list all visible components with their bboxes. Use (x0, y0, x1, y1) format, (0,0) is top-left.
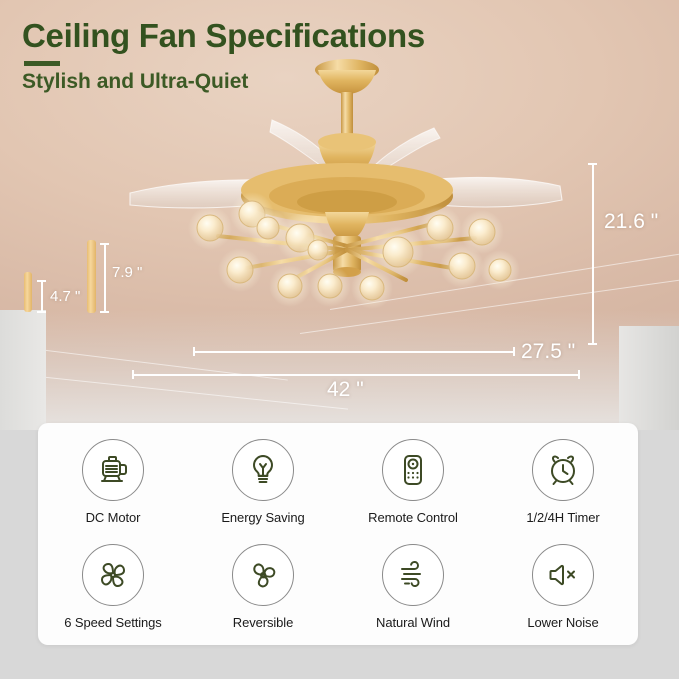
page-title: Ceiling Fan Specifications (22, 18, 425, 54)
feature-natural-wind[interactable]: Natural Wind (338, 544, 488, 630)
dimension-line-span-retracted (193, 351, 515, 353)
dimension-label-downrod-short: 4.7 " (50, 288, 80, 305)
light-bulb-icon (232, 439, 294, 501)
dimension-line-downrod-long (104, 243, 106, 313)
feature-label: Energy Saving (221, 510, 304, 525)
dimension-cap (513, 347, 515, 356)
dimension-line-height (592, 163, 594, 345)
feature-label: 6 Speed Settings (64, 615, 161, 630)
dc-motor-icon (82, 439, 144, 501)
mute-speaker-icon (532, 544, 594, 606)
feature-label: 1/2/4H Timer (526, 510, 599, 525)
feature-row: DC Motor Energy Saving (38, 429, 638, 534)
feature-label: DC Motor (86, 510, 141, 525)
dimension-cap (100, 243, 109, 245)
product-photo: 21.6 " 27.5 " 42 " 4.7 " 7.9 " Ceiling F… (0, 0, 679, 430)
header-block: Ceiling Fan Specifications Stylish and U… (22, 18, 425, 94)
feature-label: Lower Noise (527, 615, 598, 630)
dimension-cap (588, 343, 597, 345)
wind-icon (382, 544, 444, 606)
feature-lower-noise[interactable]: Lower Noise (488, 544, 638, 630)
feature-reversible[interactable]: Reversible (188, 544, 338, 630)
dimension-label-span-retracted: 27.5 " (521, 340, 575, 364)
dimension-line-span-extended (132, 374, 580, 376)
title-divider (24, 61, 60, 66)
dimension-cap (37, 280, 46, 282)
alarm-clock-icon (532, 439, 594, 501)
feature-energy-saving[interactable]: Energy Saving (188, 439, 338, 525)
feature-label: Remote Control (368, 510, 458, 525)
page-subtitle: Stylish and Ultra-Quiet (22, 70, 425, 94)
downrod-short-graphic (24, 272, 32, 312)
feature-panel: DC Motor Energy Saving (38, 423, 638, 645)
feature-dc-motor[interactable]: DC Motor (38, 439, 188, 525)
dimension-cap (578, 370, 580, 379)
dimension-label-downrod-long: 7.9 " (112, 264, 142, 281)
feature-label: Reversible (233, 615, 293, 630)
dimension-cap (588, 163, 597, 165)
dimension-cap (132, 370, 134, 379)
dimension-line-downrod-short (41, 280, 43, 313)
dimension-cap (193, 347, 195, 356)
dimension-label-span-extended: 42 " (327, 378, 364, 402)
dimension-cap (37, 311, 46, 313)
feature-timer[interactable]: 1/2/4H Timer (488, 439, 638, 525)
feature-label: Natural Wind (376, 615, 450, 630)
feature-remote-control[interactable]: Remote Control (338, 439, 488, 525)
fan-speed-icon (82, 544, 144, 606)
dimension-label-height: 21.6 " (604, 210, 658, 234)
feature-row: 6 Speed Settings Reversible (38, 534, 638, 639)
reversible-fan-icon (232, 544, 294, 606)
remote-control-icon (382, 439, 444, 501)
dimension-cap (100, 311, 109, 313)
feature-speed-settings[interactable]: 6 Speed Settings (38, 544, 188, 630)
product-spec-image: 21.6 " 27.5 " 42 " 4.7 " 7.9 " Ceiling F… (0, 0, 679, 679)
downrod-long-graphic (87, 240, 96, 313)
